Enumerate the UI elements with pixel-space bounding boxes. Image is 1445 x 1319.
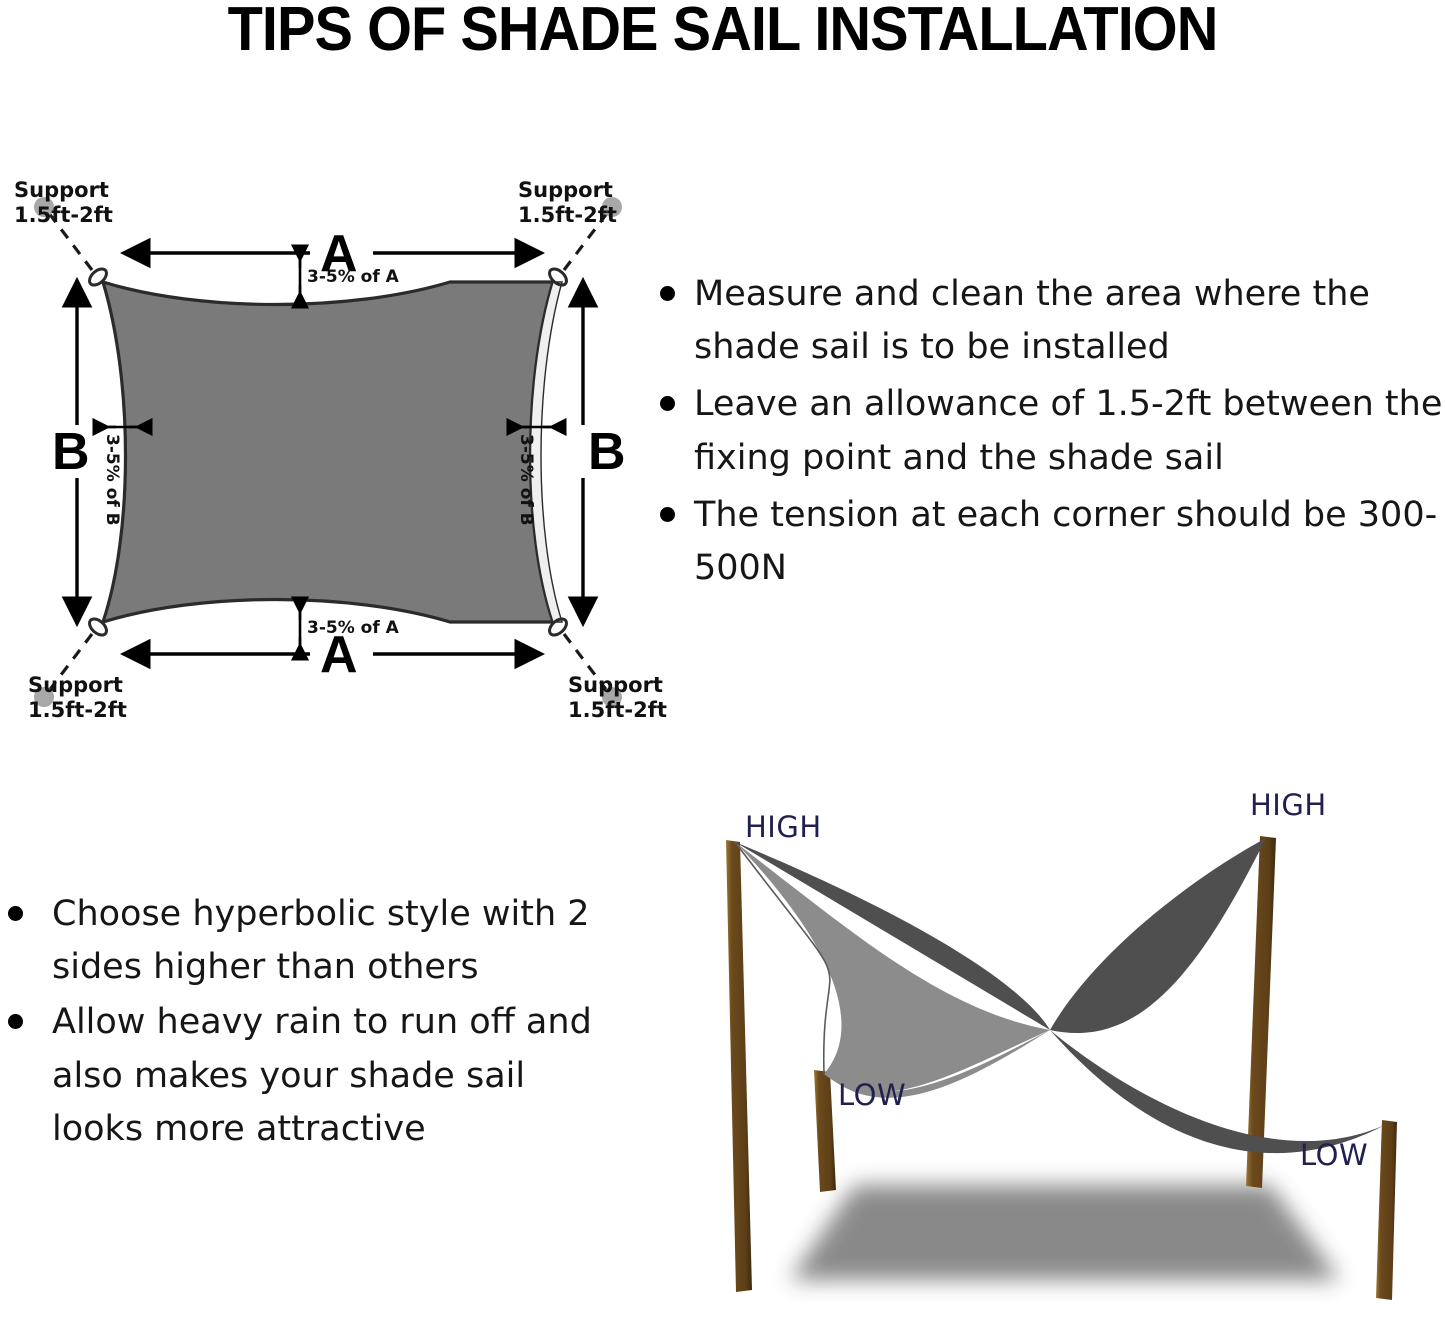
list-item-text: Measure and clean the area where the sha… — [694, 274, 1370, 367]
curvature-label-bottom: 3-5% of A — [307, 618, 399, 638]
hyper-diagram-svg — [640, 780, 1445, 1319]
bullet-dot-icon — [8, 1014, 23, 1029]
support-label-line2: 1.5ft-2ft — [568, 698, 667, 722]
curvature-label-left: 3-5% of B — [102, 434, 122, 526]
list-item: Allow heavy rain to run off and also mak… — [0, 996, 625, 1156]
support-label-line2: 1.5ft-2ft — [518, 203, 617, 227]
support-label-bottom-left: Support 1.5ft-2ft — [28, 673, 127, 723]
installation-tips-list: Measure and clean the area where the sha… — [638, 268, 1445, 595]
hyperbolic-sail-diagram: HIGH HIGH LOW LOW — [640, 780, 1445, 1319]
label-low-right: LOW — [1300, 1138, 1368, 1172]
support-label-line1: Support — [518, 178, 613, 202]
list-item: Choose hyperbolic style with 2 sides hig… — [0, 888, 625, 994]
list-item-text: Allow heavy rain to run off and also mak… — [52, 1002, 592, 1148]
post-high-left — [726, 840, 752, 1292]
post-low-right — [1376, 1120, 1397, 1300]
rectangular-sail-diagram: Support 1.5ft-2ft Support 1.5ft-2ft Supp… — [0, 160, 680, 730]
support-label-top-right: Support 1.5ft-2ft — [518, 178, 617, 228]
post-low-left — [814, 1070, 836, 1192]
support-label-bottom-right: Support 1.5ft-2ft — [568, 673, 667, 723]
support-label-line1: Support — [14, 178, 109, 202]
sail-shape — [103, 282, 553, 622]
label-high-right: HIGH — [1250, 788, 1327, 822]
list-item-text: Choose hyperbolic style with 2 sides hig… — [52, 894, 590, 987]
hyperbolic-style-list: Choose hyperbolic style with 2 sides hig… — [0, 888, 625, 1156]
label-high-left: HIGH — [745, 810, 822, 844]
curvature-label-top: 3-5% of A — [307, 267, 399, 287]
curvature-label-right: 3-5% of B — [516, 434, 536, 526]
list-item: The tension at each corner should be 300… — [638, 489, 1445, 595]
list-item-text: The tension at each corner should be 300… — [694, 495, 1437, 588]
bullet-dot-icon — [8, 906, 23, 921]
page-title: TIPS OF SHADE SAIL INSTALLATION — [51, 0, 1395, 65]
support-label-line2: 1.5ft-2ft — [28, 698, 127, 722]
ground-shadow — [790, 1185, 1340, 1280]
list-item: Measure and clean the area where the sha… — [638, 268, 1445, 374]
bullet-dot-icon — [660, 286, 675, 301]
bullet-dot-icon — [660, 396, 675, 411]
sail-panel-dark — [735, 838, 1385, 1153]
support-label-top-left: Support 1.5ft-2ft — [14, 178, 113, 228]
dimension-letter-b-left: B — [52, 426, 90, 478]
list-item-text: Leave an allowance of 1.5-2ft between th… — [694, 384, 1442, 477]
support-label-line2: 1.5ft-2ft — [14, 203, 113, 227]
support-label-line1: Support — [28, 673, 123, 697]
dimension-letter-b-right: B — [588, 426, 626, 478]
support-label-line1: Support — [568, 673, 663, 697]
sail-edge-left — [735, 842, 830, 1074]
bullet-dot-icon — [660, 507, 675, 522]
installation-tips-panel: Measure and clean the area where the sha… — [638, 268, 1445, 599]
label-low-left: LOW — [838, 1078, 906, 1112]
hyperbolic-style-panel: Choose hyperbolic style with 2 sides hig… — [0, 888, 625, 1158]
list-item: Leave an allowance of 1.5-2ft between th… — [638, 378, 1445, 484]
